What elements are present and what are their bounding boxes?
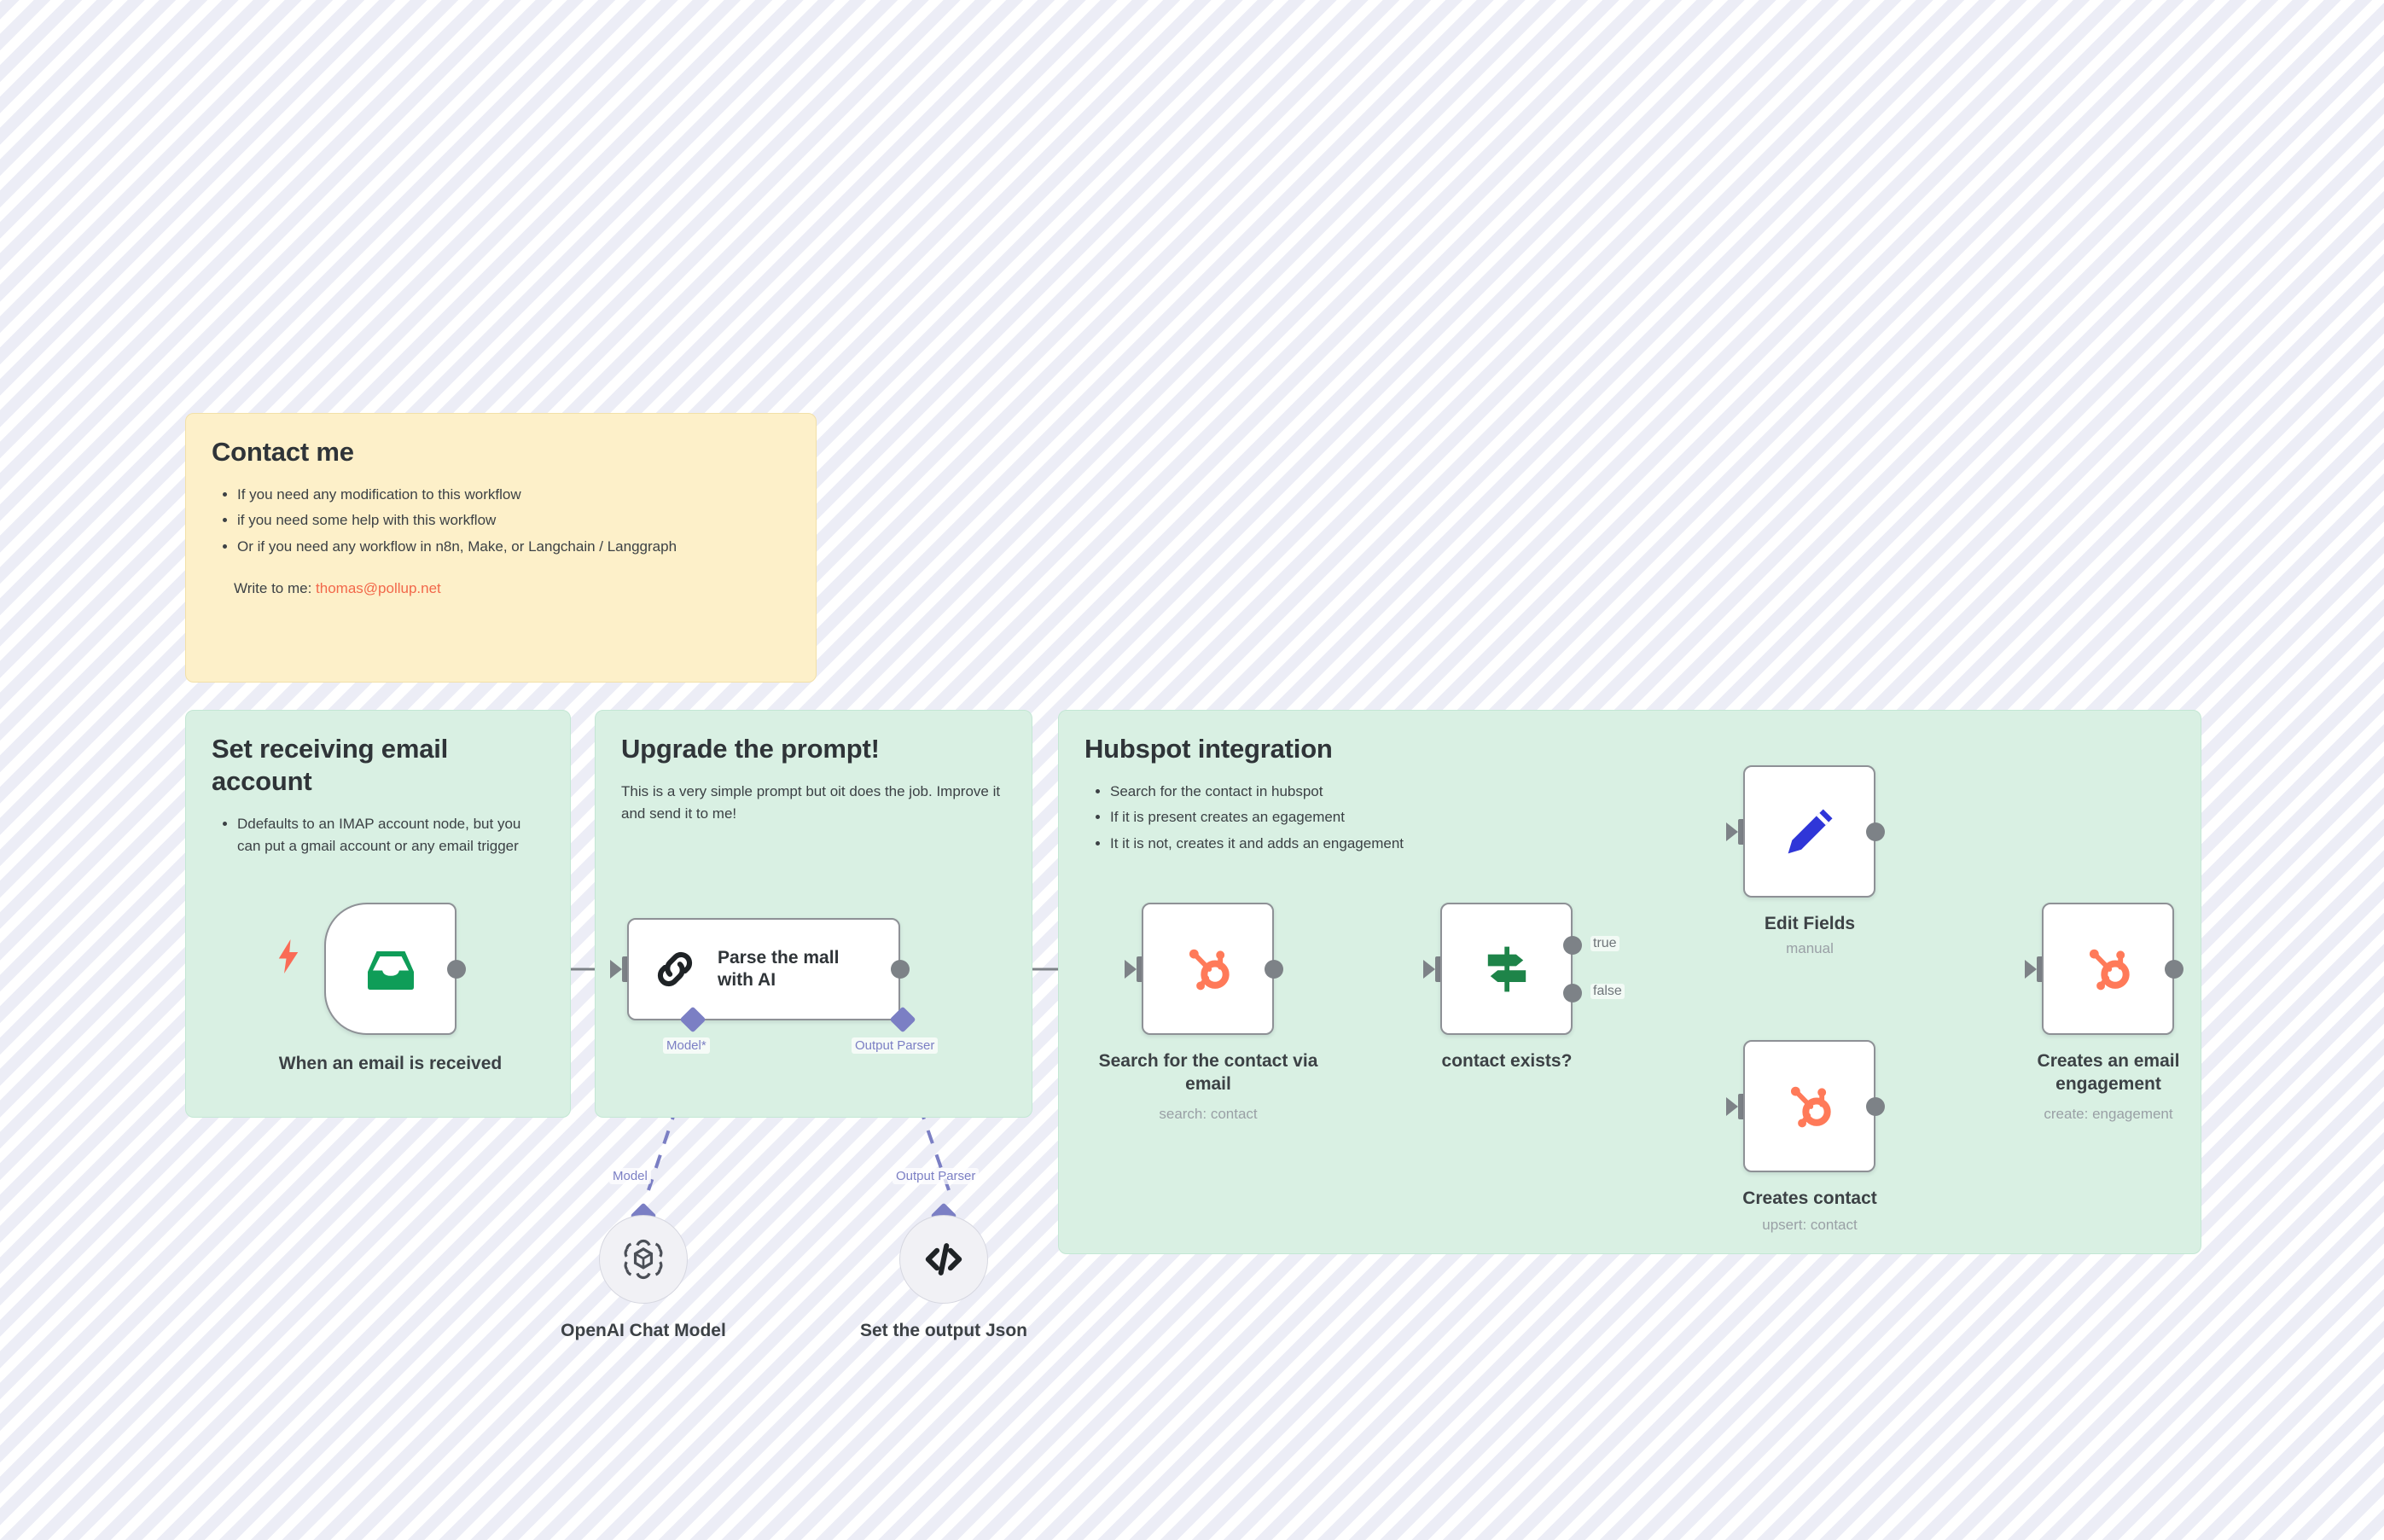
write-to-me-label: Write to me:	[234, 580, 316, 596]
note-bullet: If you need any modification to this wor…	[237, 484, 790, 506]
openai-icon	[619, 1235, 668, 1284]
note-bullet: Ddefaults to an IMAP account node, but y…	[237, 813, 544, 858]
pencil-icon	[1780, 802, 1840, 862]
model-subport-label: Model	[609, 1168, 651, 1184]
node-label: Creates an email engagement	[1963, 1049, 2253, 1096]
node-box[interactable]	[1743, 1040, 1875, 1172]
email-link[interactable]: thomas@pollup.net	[316, 580, 441, 596]
note-bullet: Search for the contact in hubspot	[1110, 781, 2175, 803]
workflow-canvas[interactable]: Contact me If you need any modification …	[0, 0, 2384, 1540]
node-subtitle: search: contact	[1063, 1106, 1353, 1123]
output-port[interactable]	[1265, 960, 1283, 979]
output-port-false[interactable]	[1563, 984, 1582, 1002]
output-parser-subport-label: Output Parser	[852, 1037, 938, 1054]
node-subtitle: upsert: contact	[1665, 1217, 1955, 1234]
hubspot-icon	[1177, 938, 1240, 1001]
note-bullet-list: Ddefaults to an IMAP account node, but y…	[212, 813, 544, 858]
note-paragraph: This is a very simple prompt but oit doe…	[621, 781, 1006, 826]
node-box[interactable]	[2042, 903, 2174, 1035]
node-label: OpenAI Chat Model	[498, 1319, 788, 1342]
note-title: Contact me	[212, 436, 790, 468]
code-brackets-icon	[920, 1235, 968, 1283]
output-port[interactable]	[1866, 822, 1885, 841]
note-bullet: Or if you need any workflow in n8n, Make…	[237, 536, 790, 558]
node-box[interactable]	[1142, 903, 1274, 1035]
output-port[interactable]	[891, 960, 910, 979]
output-port[interactable]	[447, 960, 466, 979]
sticky-note-upgrade-the-prompt[interactable]: Upgrade the prompt! This is a very simpl…	[595, 710, 1032, 1118]
note-footer: Write to me: thomas@pollup.net	[234, 580, 790, 597]
model-subport-label: Model*	[663, 1037, 710, 1054]
node-inline-label: Parse the mall with AI	[718, 947, 871, 992]
node-label: contact exists?	[1362, 1049, 1652, 1072]
note-title: Hubspot integration	[1084, 733, 2175, 765]
node-label: Edit Fields	[1665, 912, 1955, 935]
node-box[interactable]	[1743, 765, 1875, 898]
output-port[interactable]	[2165, 960, 2183, 979]
hubspot-icon	[1778, 1075, 1841, 1138]
note-bullet: if you need some help with this workflow	[237, 509, 790, 532]
node-circle[interactable]	[599, 1215, 688, 1304]
note-title: Upgrade the prompt!	[621, 733, 1006, 765]
note-bullet-list: Search for the contact in hubspot If it …	[1084, 781, 2175, 855]
output-port-true[interactable]	[1563, 936, 1582, 955]
branch-label-true: true	[1590, 936, 1619, 951]
note-bullet: If it is present creates an egagement	[1110, 806, 2175, 828]
node-label: Set the output Json	[799, 1319, 1089, 1342]
node-box[interactable]	[324, 903, 456, 1035]
inbox-icon	[359, 944, 422, 995]
lightning-bolt-icon	[276, 939, 301, 974]
sticky-note-contact-me[interactable]: Contact me If you need any modification …	[185, 413, 817, 683]
switch-signpost-icon	[1476, 939, 1538, 1000]
note-title: Set receiving email account	[212, 733, 536, 798]
note-bullet: It it is not, creates it and adds an eng…	[1110, 833, 2175, 855]
node-label: When an email is received	[230, 1052, 550, 1075]
node-label: Creates contact	[1665, 1187, 1955, 1210]
output-parser-subport-label: Output Parser	[893, 1168, 979, 1184]
node-label: Search for the contact via email	[1063, 1049, 1353, 1096]
branch-label-false: false	[1590, 984, 1625, 999]
node-subtitle: create: engagement	[1963, 1106, 2253, 1123]
node-box[interactable]	[1440, 903, 1573, 1035]
output-port[interactable]	[1866, 1097, 1885, 1116]
chain-link-icon	[651, 945, 699, 993]
node-box[interactable]: Parse the mall with AI	[627, 918, 900, 1020]
node-circle[interactable]	[899, 1215, 988, 1304]
note-bullet-list: If you need any modification to this wor…	[212, 484, 790, 558]
node-subtitle: manual	[1665, 940, 1955, 957]
hubspot-icon	[2077, 938, 2140, 1001]
